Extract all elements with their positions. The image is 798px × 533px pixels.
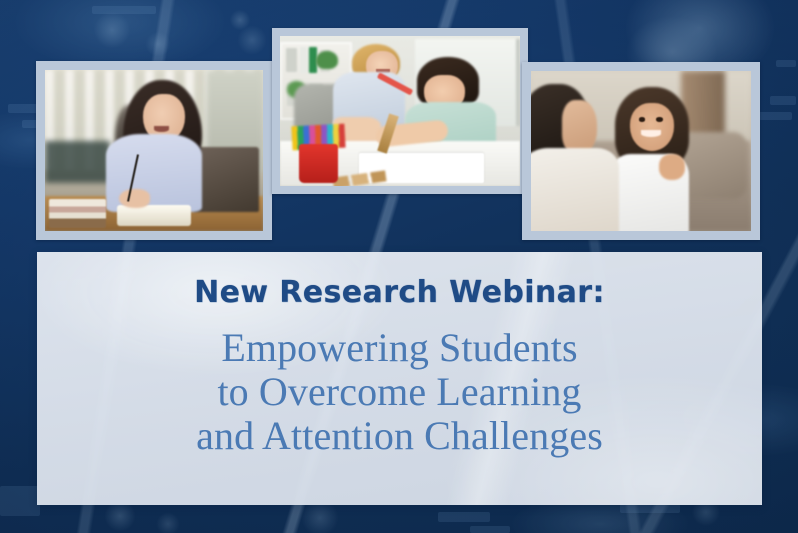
- photo-frame-woman-and-girl: [522, 62, 760, 240]
- webinar-promo-poster: New Research Webinar: Empowering Student…: [0, 0, 798, 533]
- headline-line-1: Empowering Students: [196, 326, 603, 370]
- title-panel: New Research Webinar: Empowering Student…: [37, 252, 762, 505]
- kicker-text: New Research Webinar:: [194, 278, 605, 308]
- headline-line-2: to Overcome Learning: [196, 370, 603, 414]
- photo-student-studying: [45, 70, 263, 231]
- headline-line-3: and Attention Challenges: [196, 414, 603, 458]
- photo-teacher-and-boy: [280, 36, 520, 186]
- photo-frame-student-studying: [36, 61, 272, 240]
- photo-woman-and-girl: [531, 71, 751, 231]
- headline-text: Empowering Students to Overcome Learning…: [196, 326, 603, 458]
- photo-frame-teacher-and-boy: [272, 28, 528, 194]
